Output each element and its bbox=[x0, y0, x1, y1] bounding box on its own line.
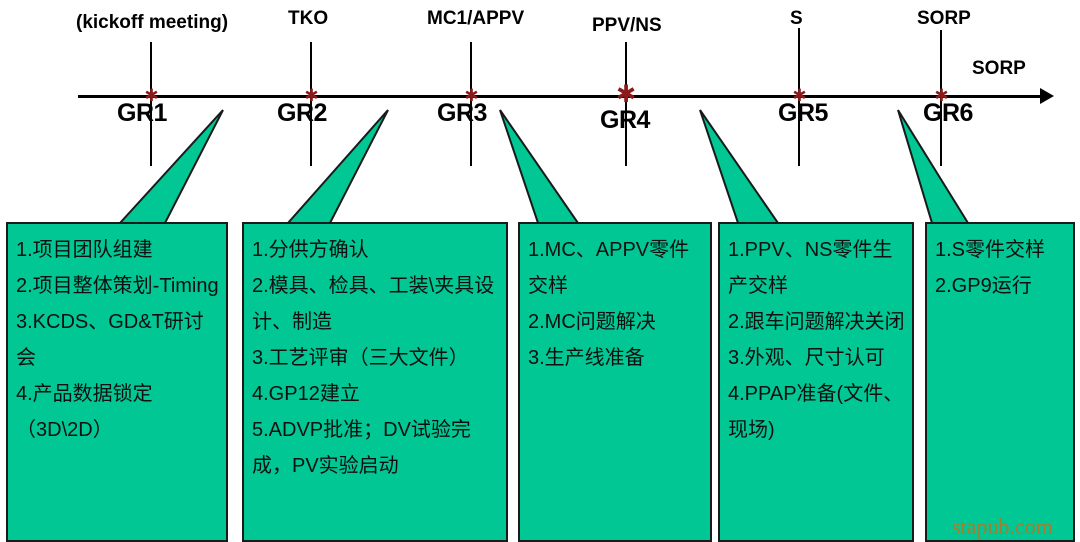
diagram-canvas: ✱ ✱ ✱ ✱ ✱ ✱ (kickoff meeting) TKO MC1/AP… bbox=[0, 0, 1080, 542]
pointer-triangle-gr3 bbox=[500, 110, 592, 225]
pointer-triangle-gr4 bbox=[700, 110, 792, 225]
top-label-gr2: TKO bbox=[288, 8, 328, 30]
callout-text-gr5: 1.S零件交样 2.GP9运行 bbox=[927, 224, 1073, 304]
callout-box-gr2: 1.分供方确认 2.模具、检具、工装\夹具设计、制造 3.工艺评审（三大文件） … bbox=[242, 222, 508, 542]
timeline-axis bbox=[78, 95, 1046, 98]
watermark: stapub.com bbox=[952, 514, 1053, 540]
pointer-triangle-gr2 bbox=[288, 110, 396, 225]
pointer-triangle-gr5 bbox=[898, 110, 980, 225]
top-label-gr5: S bbox=[790, 8, 803, 30]
callout-text-gr4: 1.PPV、NS零件生产交样 2.跟车问题解决关闭 3.外观、尺寸认可 4.PP… bbox=[720, 224, 912, 448]
callout-box-gr1: 1.项目团队组建 2.项目整体策划-Timing 3.KCDS、GD&T研讨会 … bbox=[6, 222, 228, 542]
top-label-gr4: PPV/NS bbox=[592, 15, 662, 37]
pointer-triangle-gr1 bbox=[120, 110, 230, 225]
gate-label-gr4: GR4 bbox=[600, 106, 650, 135]
top-label-gr1: (kickoff meeting) bbox=[76, 12, 228, 34]
timeline-arrow-icon bbox=[1040, 88, 1054, 104]
axis-end-label-sorp: SORP bbox=[972, 58, 1026, 80]
marker-gr4: ✱ bbox=[616, 85, 636, 105]
callout-text-gr1: 1.项目团队组建 2.项目整体策划-Timing 3.KCDS、GD&T研讨会 … bbox=[8, 224, 226, 448]
callout-text-gr3: 1.MC、APPV零件交样 2.MC问题解决 3.生产线准备 bbox=[520, 224, 710, 376]
callout-box-gr5: 1.S零件交样 2.GP9运行 bbox=[925, 222, 1075, 542]
callout-box-gr4: 1.PPV、NS零件生产交样 2.跟车问题解决关闭 3.外观、尺寸认可 4.PP… bbox=[718, 222, 914, 542]
top-label-gr6: SORP bbox=[917, 8, 971, 30]
callout-text-gr2: 1.分供方确认 2.模具、检具、工装\夹具设计、制造 3.工艺评审（三大文件） … bbox=[244, 224, 506, 484]
top-label-gr3: MC1/APPV bbox=[427, 8, 524, 30]
gate-label-gr3: GR3 bbox=[437, 99, 487, 128]
callout-box-gr3: 1.MC、APPV零件交样 2.MC问题解决 3.生产线准备 bbox=[518, 222, 712, 542]
